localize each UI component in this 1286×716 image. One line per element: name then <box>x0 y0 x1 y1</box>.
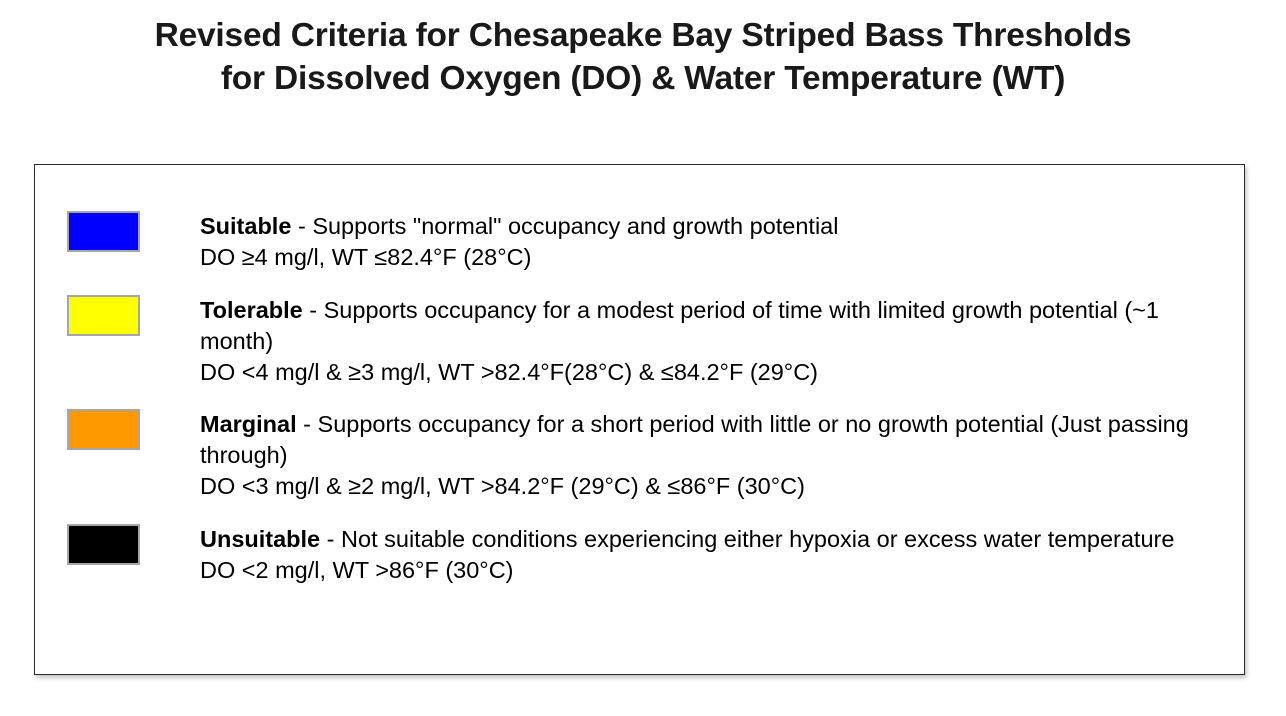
legend-panel: Suitable - Supports "normal" occupancy a… <box>34 164 1245 675</box>
legend-item-term: Tolerable <box>200 297 303 323</box>
page-title: Revised Criteria for Chesapeake Bay Stri… <box>0 14 1286 100</box>
legend-item-thresholds: DO <3 mg/l & ≥2 mg/l, WT >84.2°F (29°C) … <box>200 471 1224 502</box>
legend-item-text: Suitable - Supports "normal" occupancy a… <box>200 211 1224 273</box>
legend-item-description: Marginal - Supports occupancy for a shor… <box>200 409 1224 471</box>
legend-item-unsuitable: Unsuitable - Not suitable conditions exp… <box>67 524 1224 586</box>
legend-item-term: Marginal <box>200 411 297 437</box>
legend-item-description: Tolerable - Supports occupancy for a mod… <box>200 295 1224 357</box>
legend-item-separator: - <box>320 526 341 552</box>
legend-item-separator: - <box>297 411 318 437</box>
legend-item-description: Suitable - Supports "normal" occupancy a… <box>200 211 1224 242</box>
legend-item-text: Unsuitable - Not suitable conditions exp… <box>200 524 1224 586</box>
legend-item-description-text: Supports "normal" occupancy and growth p… <box>312 213 838 239</box>
slide-canvas: Revised Criteria for Chesapeake Bay Stri… <box>0 0 1286 716</box>
color-swatch-black <box>67 524 140 565</box>
legend-item-separator: - <box>291 213 312 239</box>
legend-item-description-text: Supports occupancy for a modest period o… <box>200 297 1159 354</box>
legend-item-text: Marginal - Supports occupancy for a shor… <box>200 409 1224 502</box>
color-swatch-orange <box>67 409 140 450</box>
color-swatch-blue <box>67 211 140 252</box>
legend-item-separator: - <box>303 297 324 323</box>
color-swatch-yellow <box>67 295 140 336</box>
legend-item-description-text: Supports occupancy for a short period wi… <box>200 411 1189 468</box>
legend-item-description: Unsuitable - Not suitable conditions exp… <box>200 524 1224 555</box>
legend-item-text: Tolerable - Supports occupancy for a mod… <box>200 295 1224 388</box>
legend-item-description-text: Not suitable conditions experiencing eit… <box>341 526 1174 552</box>
legend-item-marginal: Marginal - Supports occupancy for a shor… <box>67 409 1224 502</box>
legend-item-tolerable: Tolerable - Supports occupancy for a mod… <box>67 295 1224 388</box>
legend-item-thresholds: DO <2 mg/l, WT >86°F (30°C) <box>200 555 1224 586</box>
legend-item-term: Suitable <box>200 213 291 239</box>
legend-item-thresholds: DO ≥4 mg/l, WT ≤82.4°F (28°C) <box>200 242 1224 273</box>
legend-list: Suitable - Supports "normal" occupancy a… <box>67 211 1224 586</box>
legend-item-suitable: Suitable - Supports "normal" occupancy a… <box>67 211 1224 273</box>
legend-item-term: Unsuitable <box>200 526 320 552</box>
legend-item-thresholds: DO <4 mg/l & ≥3 mg/l, WT >82.4°F(28°C) &… <box>200 357 1224 388</box>
